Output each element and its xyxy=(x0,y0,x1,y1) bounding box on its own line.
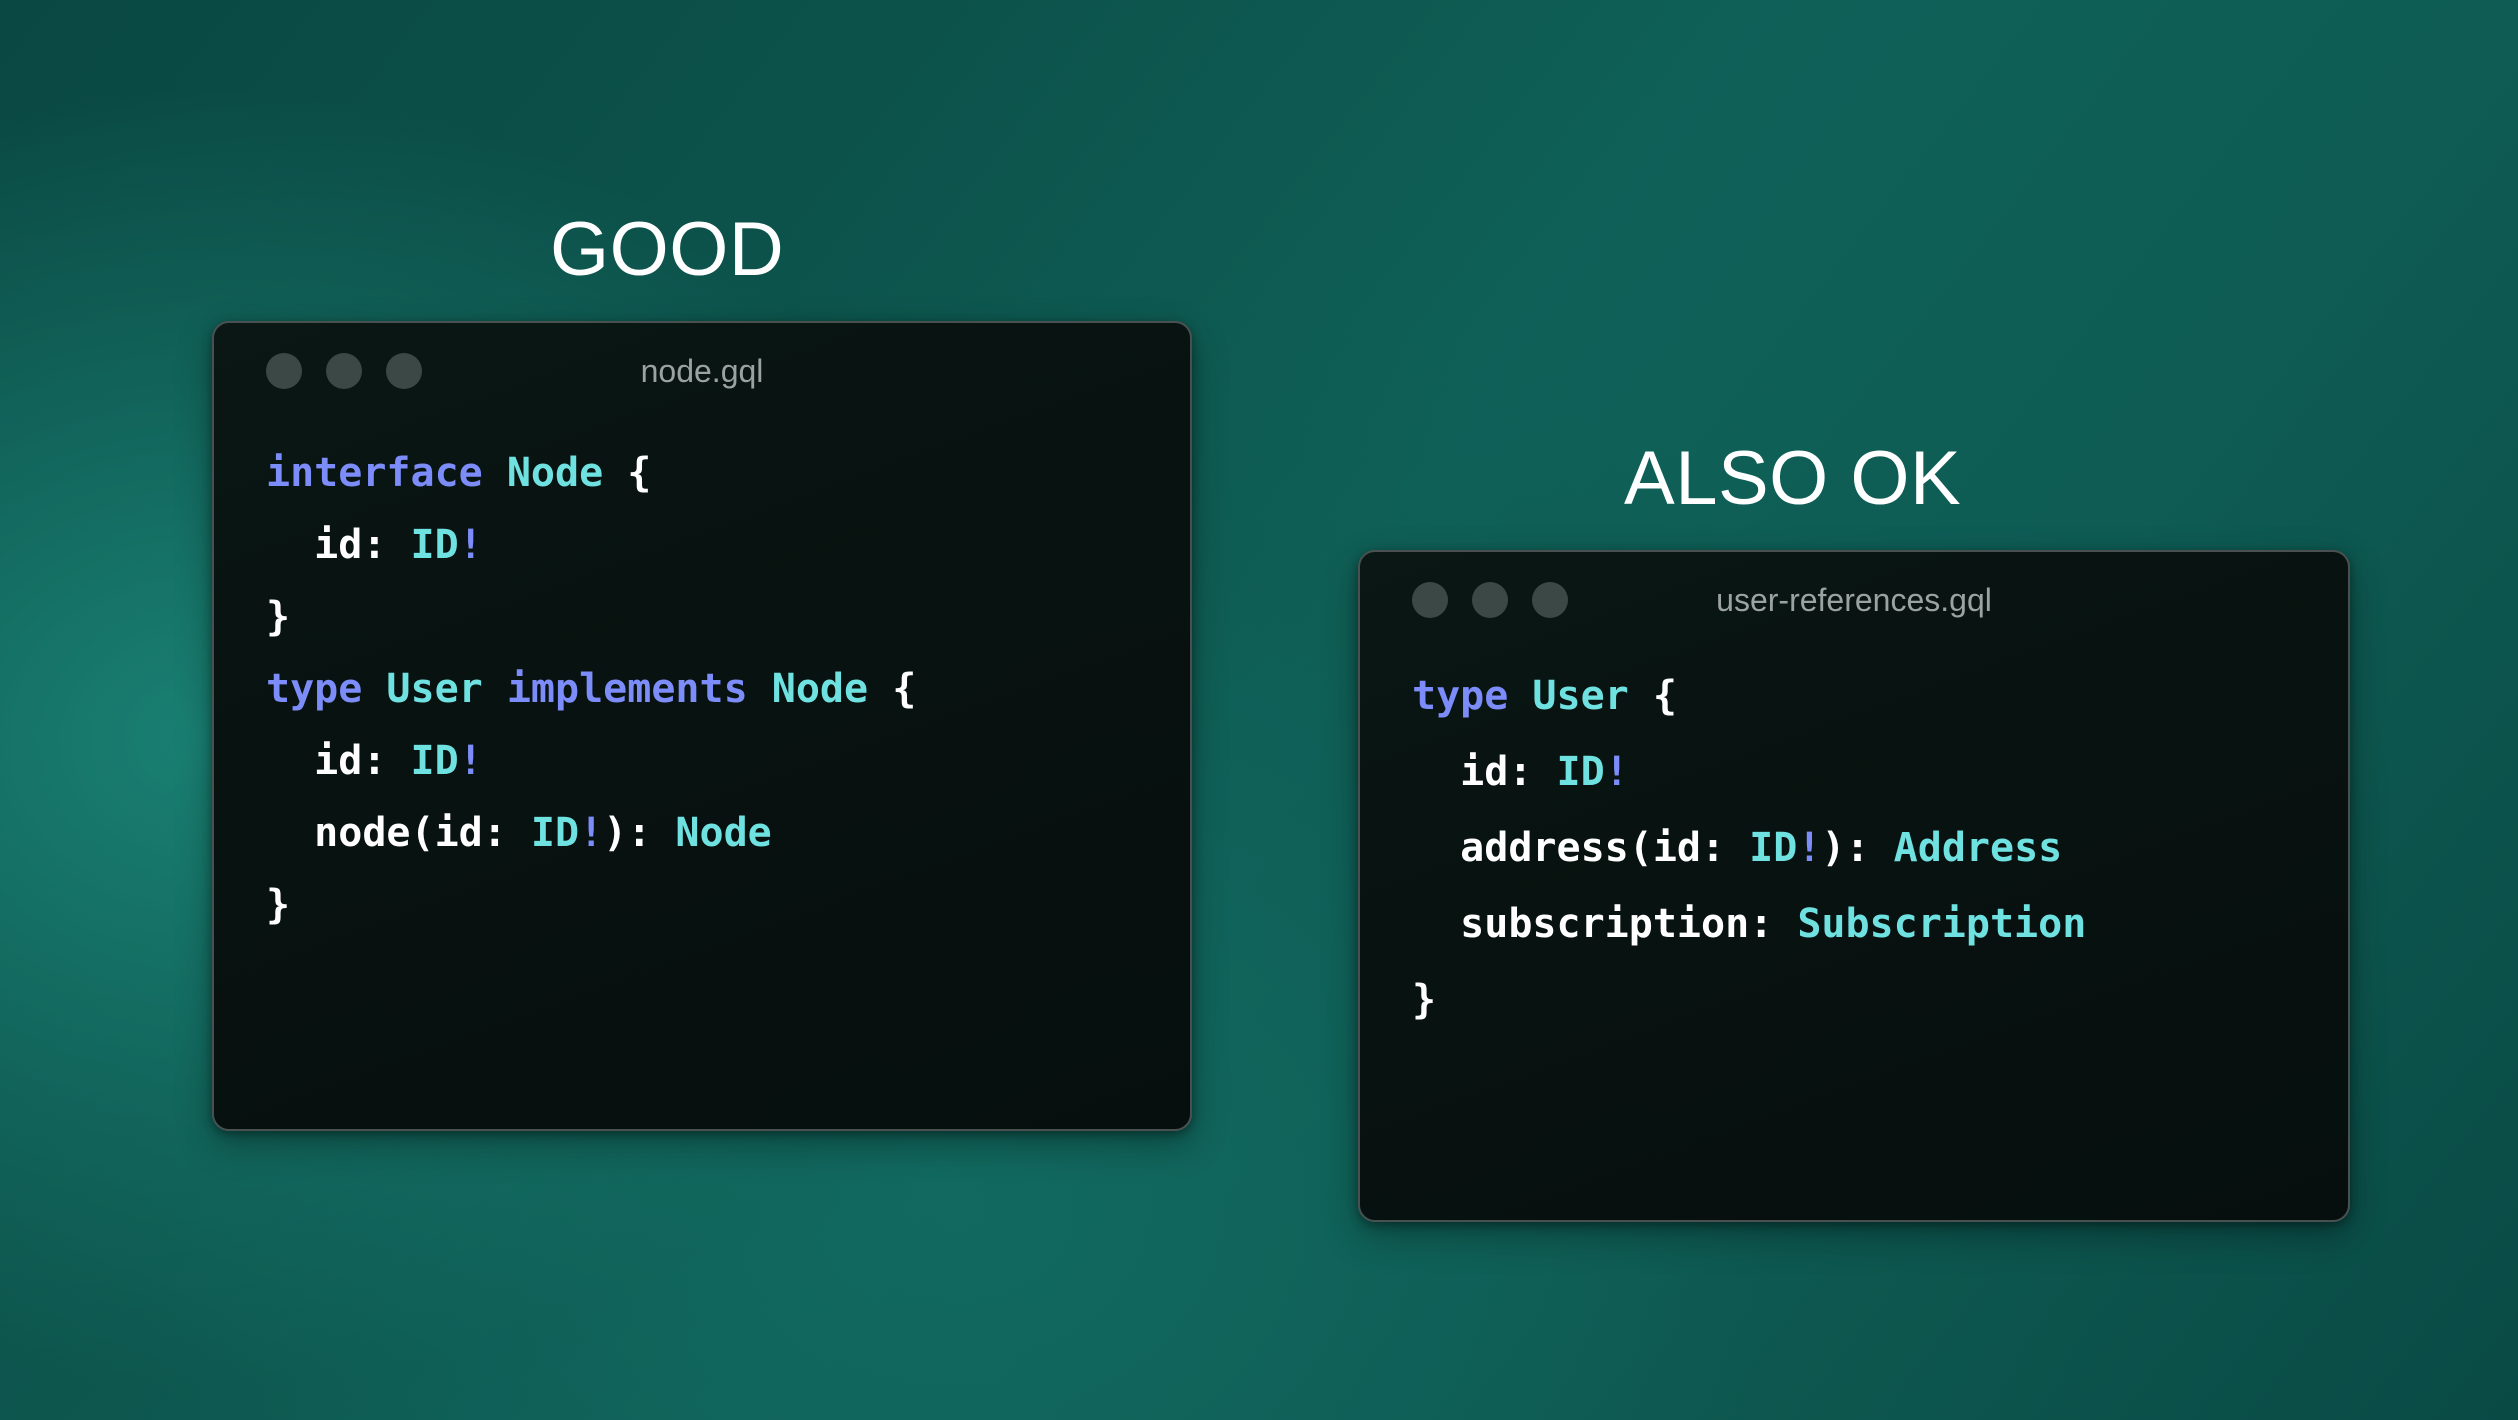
code-token-bang: ! xyxy=(459,738,483,784)
code-block-user-references-gql: type User { id: ID! address(id: ID!): Ad… xyxy=(1360,648,2348,1038)
code-token-type: ID xyxy=(411,738,459,784)
code-token-type: Node xyxy=(675,810,771,856)
code-token-keyword: type xyxy=(266,666,362,712)
code-token-plain xyxy=(483,666,507,712)
code-window-user-references-gql: user-references.gql type User { id: ID! … xyxy=(1358,550,2350,1222)
code-token-bang: ! xyxy=(459,522,483,568)
code-token-punctuation: node(id: xyxy=(266,810,531,856)
code-token-plain xyxy=(868,666,892,712)
caption-also-ok: ALSO OK xyxy=(1624,441,2350,517)
code-line: type User implements Node { xyxy=(266,653,1190,725)
code-token-type: Node xyxy=(772,666,868,712)
code-token-type: User xyxy=(386,666,482,712)
code-line: id: ID! xyxy=(1412,734,2348,810)
code-token-plain xyxy=(1629,673,1653,719)
code-token-punctuation: { xyxy=(627,450,651,496)
figure-also-ok: ALSO OK user-references.gql type User { … xyxy=(1358,441,2350,1222)
window-titlebar: node.gql xyxy=(214,323,1190,419)
maximize-dot-icon[interactable] xyxy=(386,353,422,389)
traffic-lights xyxy=(266,353,446,389)
code-token-punctuation: address(id: xyxy=(1412,825,1749,871)
close-dot-icon[interactable] xyxy=(1412,582,1448,618)
code-token-type: Subscription xyxy=(1797,901,2086,947)
traffic-lights xyxy=(1412,582,1592,618)
code-token-punctuation: } xyxy=(1412,977,1436,1023)
code-token-punctuation: subscription: xyxy=(1412,901,1797,947)
maximize-dot-icon[interactable] xyxy=(1532,582,1568,618)
code-token-plain xyxy=(603,450,627,496)
code-token-bang: ! xyxy=(579,810,603,856)
code-token-punctuation: } xyxy=(266,882,290,928)
code-token-type: Node xyxy=(507,450,603,496)
code-line: type User { xyxy=(1412,658,2348,734)
code-token-punctuation: { xyxy=(1653,673,1677,719)
code-token-plain xyxy=(748,666,772,712)
code-token-punctuation: ): xyxy=(603,810,675,856)
code-window-node-gql: node.gql interface Node { id: ID!}type U… xyxy=(212,321,1192,1131)
code-token-punctuation: id: xyxy=(1412,749,1557,795)
code-line: } xyxy=(1412,962,2348,1038)
code-token-type: ID xyxy=(1749,825,1797,871)
code-token-plain xyxy=(1508,673,1532,719)
minimize-dot-icon[interactable] xyxy=(326,353,362,389)
code-token-keyword: implements xyxy=(507,666,748,712)
code-block-node-gql: interface Node { id: ID!}type User imple… xyxy=(214,419,1190,941)
code-token-type: User xyxy=(1532,673,1628,719)
code-line: subscription: Subscription xyxy=(1412,886,2348,962)
code-line: node(id: ID!): Node xyxy=(266,797,1190,869)
code-token-keyword: type xyxy=(1412,673,1508,719)
code-token-bang: ! xyxy=(1605,749,1629,795)
code-token-keyword: interface xyxy=(266,450,483,496)
close-dot-icon[interactable] xyxy=(266,353,302,389)
code-token-punctuation: id: xyxy=(266,738,411,784)
code-line: } xyxy=(266,869,1190,941)
code-token-punctuation: ): xyxy=(1821,825,1893,871)
code-token-type: ID xyxy=(531,810,579,856)
minimize-dot-icon[interactable] xyxy=(1472,582,1508,618)
code-token-bang: ! xyxy=(1797,825,1821,871)
code-token-punctuation: } xyxy=(266,594,290,640)
code-token-type: ID xyxy=(411,522,459,568)
caption-good: GOOD xyxy=(550,212,1192,288)
figure-good: GOOD node.gql interface Node { id: ID!}t… xyxy=(212,212,1192,1131)
code-line: } xyxy=(266,581,1190,653)
code-line: address(id: ID!): Address xyxy=(1412,810,2348,886)
code-line: id: ID! xyxy=(266,509,1190,581)
code-token-type: Address xyxy=(1894,825,2063,871)
code-token-punctuation: id: xyxy=(266,522,411,568)
window-titlebar: user-references.gql xyxy=(1360,552,2348,648)
code-line: id: ID! xyxy=(266,725,1190,797)
code-token-punctuation: { xyxy=(892,666,916,712)
code-line: interface Node { xyxy=(266,437,1190,509)
code-token-type: ID xyxy=(1557,749,1605,795)
code-token-plain xyxy=(362,666,386,712)
code-token-plain xyxy=(483,450,507,496)
